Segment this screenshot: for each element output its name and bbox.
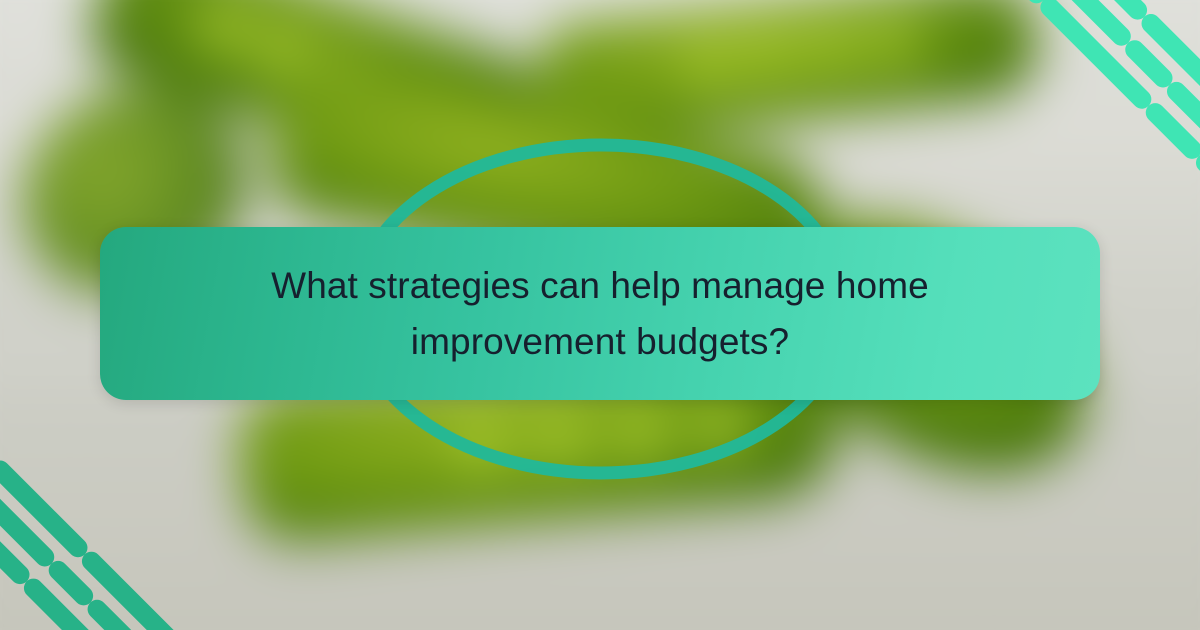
question-card-canvas: What strategies can help manage home imp… <box>0 0 1200 630</box>
question-banner: What strategies can help manage home imp… <box>100 227 1100 400</box>
question-text: What strategies can help manage home imp… <box>250 258 950 369</box>
